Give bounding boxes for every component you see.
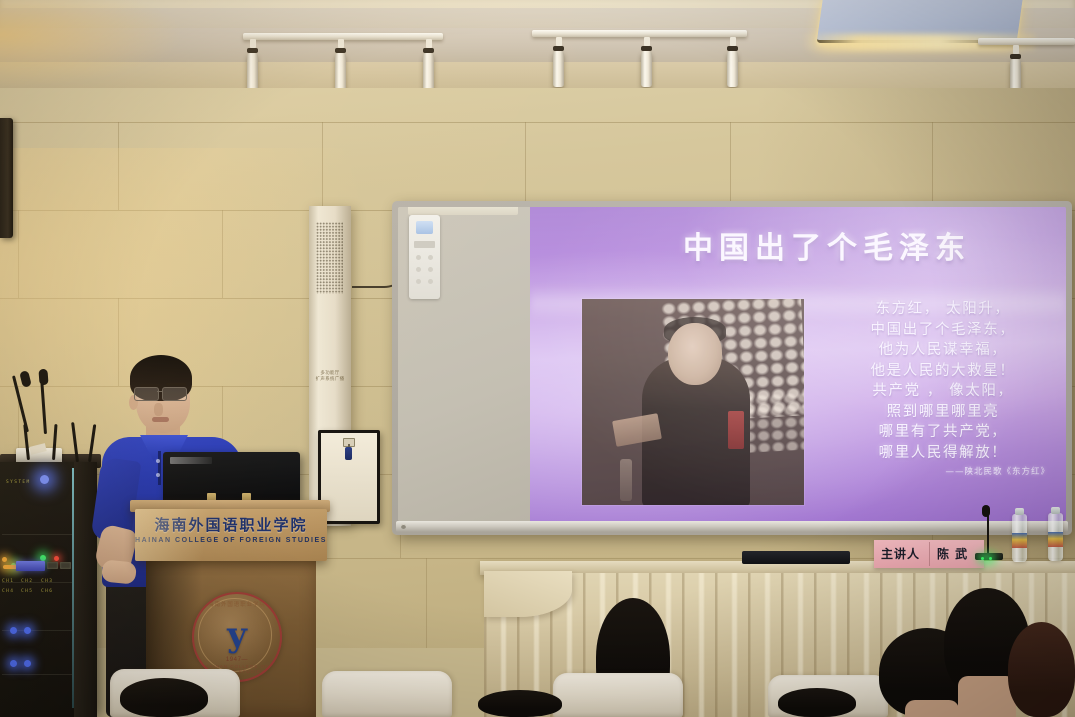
led-indicator-icon [3,565,17,569]
board-surface: 中国出了个毛泽东 东方红， 太阳升， 中国出了个毛泽东， 他为人民谋幸福， 他是… [398,207,1066,521]
ceiling [0,0,1075,92]
microphone-icon [38,369,48,386]
lecture-hall-photo: 多功能厅 扩声系统广播 中国出了个 [0,0,1075,717]
poem-line: 哪里有了共产党， [828,422,1058,443]
emblem-arc-top: 海南外国语职业学院 [194,600,280,608]
led-indicator-icon [40,475,49,484]
poem-line: 共产党 ， 像太阳， [828,381,1058,402]
spotlight-icon [727,37,738,87]
av-equipment-rack[interactable]: SYSTEM CH1 CH2 CH3 CH4 CH5 CH6 [0,462,97,717]
speaker-placard: 主讲人 陈 武 [874,540,984,568]
tabletop-device[interactable] [742,551,850,564]
speaker-icon [0,118,13,238]
poem-line: 照到哪里哪里亮 [828,402,1058,423]
presenter-placket [158,451,161,485]
spotlight-icon [641,37,652,87]
spotlight-icon [553,37,564,87]
board-control-panel[interactable] [409,215,440,299]
poem-line: 东方红， 太阳升， [828,299,1058,320]
board-button-icon[interactable] [428,279,433,284]
sign-sheen [135,509,327,561]
led-indicator-icon [10,660,17,667]
board-button-icon[interactable] [428,267,433,272]
presenter-hand [101,559,137,584]
audience-chair [553,673,683,717]
tray-screw-icon [401,524,406,529]
light-rail-center [532,30,747,37]
board-button-icon[interactable] [428,255,433,260]
bottle-icon [1048,513,1063,561]
led-indicator-icon [10,627,17,634]
slide-photo [582,299,804,505]
column-speaker-label: 多功能厅 扩声系统广播 [309,370,351,382]
rack-lcd-display [16,561,45,571]
monitor-logo [170,457,212,464]
slide-poem: 东方红， 太阳升， 中国出了个毛泽东， 他为人民谋幸福， 他是人民的大救星！ 共… [828,299,1058,463]
light-rail-right [978,38,1075,45]
board-button-icon[interactable] [416,255,421,260]
rack-glass-door-edge[interactable] [72,468,74,708]
poem-line: 中国出了个毛泽东， [828,320,1058,341]
poem-line: 哪里人民得解放！ [828,443,1058,464]
power-indicator-icon [416,221,433,234]
audience-head [478,690,562,717]
plug-icon[interactable] [345,447,352,460]
microphone-icon [620,459,632,501]
rack-side-panel [74,462,97,717]
placard-name: 陈 武 [937,545,968,562]
audience-chair [322,671,452,717]
photo-figure-badge [728,411,744,449]
emblem-year: 1947— [194,657,280,663]
photo-figure-head [668,323,722,385]
rack-display-text: SYSTEM [6,480,31,485]
led-indicator-icon [2,557,7,562]
bottle-icon [1012,514,1027,562]
audience-head [1008,622,1075,717]
audience-neck [905,700,959,717]
led-indicator-icon [981,557,984,560]
board-label-strip [414,241,435,248]
presenter-mouth [152,417,169,422]
board-pen-tray [396,521,1068,532]
board-button-icon[interactable] [416,279,421,284]
projected-slide: 中国出了个毛泽东 东方红， 太阳升， 中国出了个毛泽东， 他为人民谋幸福， 他是… [530,207,1066,521]
interactive-whiteboard[interactable]: 中国出了个毛泽东 东方红， 太阳升， 中国出了个毛泽东， 他为人民谋幸福， 他是… [392,201,1072,535]
slide-title: 中国出了个毛泽东 [530,223,1066,267]
slide-attribution: ——陕北民歌《东方红》 [828,465,1050,477]
led-indicator-icon [24,627,31,634]
led-indicator-icon [989,557,992,560]
led-indicator-icon [54,556,59,561]
board-button-icon[interactable] [416,267,421,272]
audience-head [120,678,208,717]
presenter-nose [154,403,163,416]
ceiling-warm-light [0,0,180,86]
poem-line: 他为人民谋幸福， [828,340,1058,361]
board-top-strip [408,207,518,215]
speaker-grille-icon [316,222,343,294]
audience-head [778,688,856,717]
monitor-icon[interactable] [163,452,300,504]
microphone-icon [982,505,990,517]
led-indicator-icon [24,660,31,667]
emblem-letter: y [216,618,258,654]
poem-line: 他是人民的大救星！ [828,361,1058,382]
placard-role: 主讲人 [881,545,920,562]
glasses-icon [134,387,192,399]
podium-nameplate: 海南外国语职业学院 HAINAN COLLEGE OF FOREIGN STUD… [135,509,327,561]
